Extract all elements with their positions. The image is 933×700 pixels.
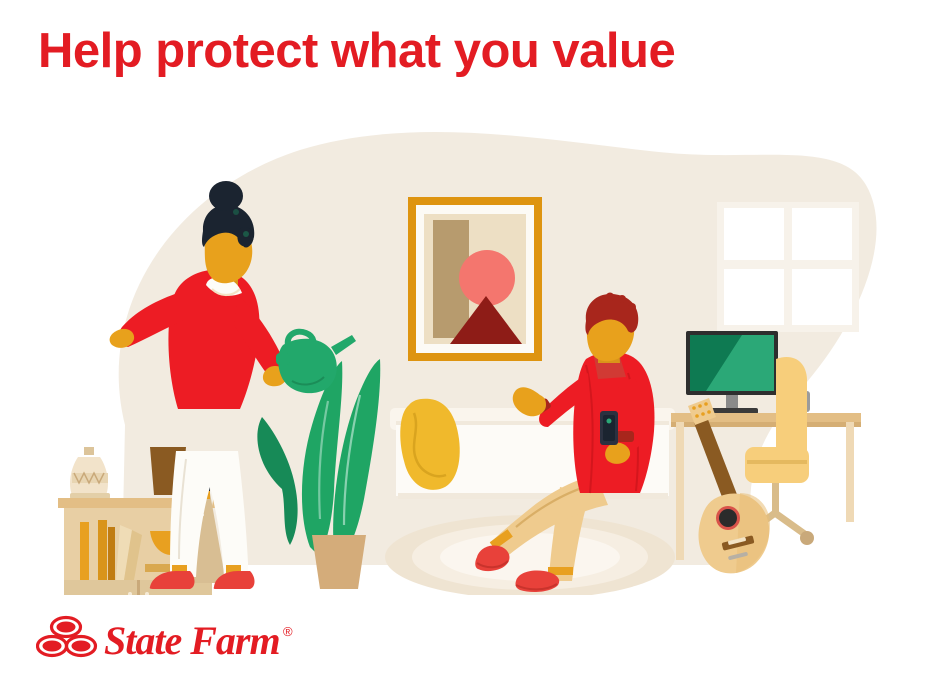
smartphone bbox=[600, 411, 618, 445]
registered-trademark-symbol: ® bbox=[283, 624, 293, 639]
illustration-alt-text: Living room scene illustration bbox=[0, 0, 1, 1]
vase bbox=[70, 447, 110, 499]
living-room-illustration bbox=[0, 95, 933, 595]
page-title: Help protect what you value bbox=[38, 26, 675, 77]
woman-hair-bun bbox=[209, 181, 243, 211]
state-farm-logo: State Farm ® bbox=[36, 612, 302, 668]
framed-wall-art bbox=[408, 197, 542, 361]
brand-logo: State Farm ® bbox=[36, 612, 302, 668]
window bbox=[717, 202, 859, 332]
illustration-canvas bbox=[0, 95, 933, 595]
brand-wordmark: State Farm bbox=[104, 618, 280, 663]
advertisement-root: Help protect what you value bbox=[0, 0, 933, 700]
plant-pot bbox=[312, 535, 366, 589]
